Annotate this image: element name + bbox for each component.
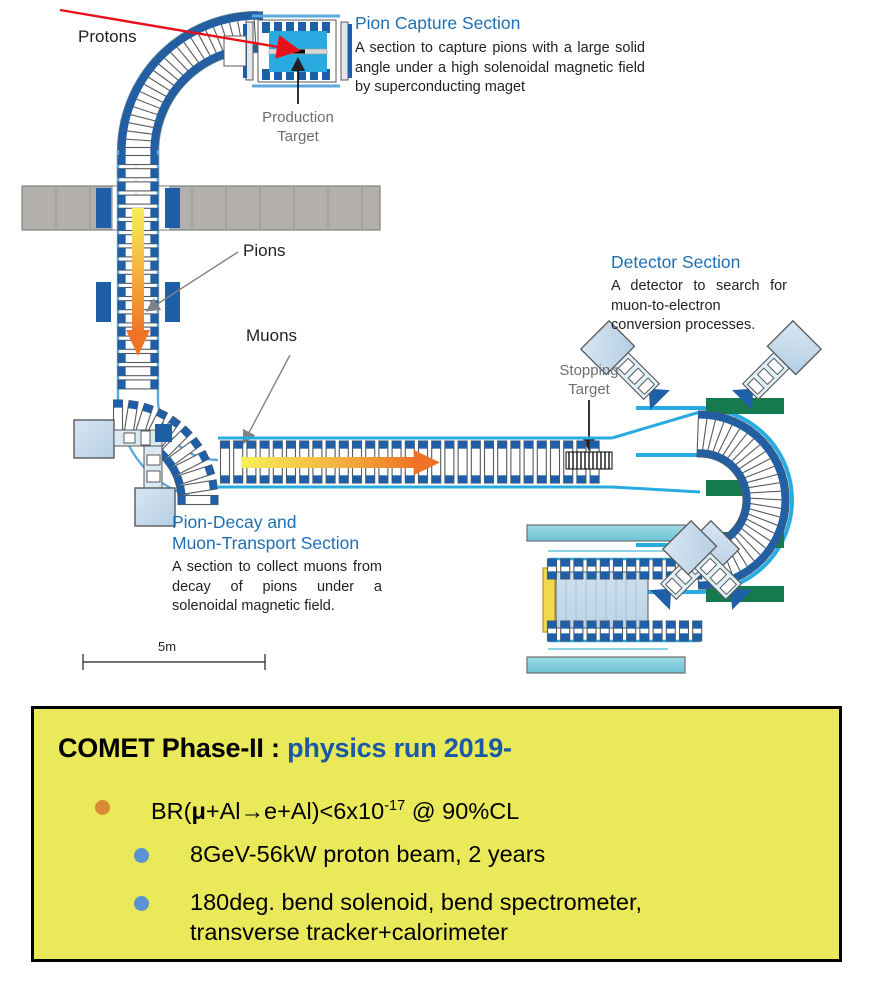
bullet-item-3: 180deg. bend solenoid, bend spectrometer… — [134, 887, 642, 947]
bullet-item-1: BR(μ+Al→e+Al)<6x10-17 @ 90%CL — [95, 791, 519, 826]
bullet-1-mu: μ — [191, 798, 205, 824]
muons-leader — [244, 355, 290, 442]
scale-bar — [83, 654, 265, 670]
pion-decay-body: A section to collect muons from decay of… — [172, 558, 382, 617]
bullet-1-tail: @ 90%CL — [405, 798, 519, 824]
panel-heading: COMET Phase-II : physics run 2019- — [58, 733, 512, 764]
detector-entry-transition — [612, 412, 700, 492]
beam-dump-assembly — [74, 420, 175, 526]
stopping-target-label-line1: Stopping — [543, 361, 635, 380]
production-target-label-line1: Production — [252, 108, 344, 127]
pion-capture-body: A section to capture pions with a large … — [355, 39, 645, 98]
shield-wall — [22, 186, 380, 230]
panel-heading-blue: physics run 2019- — [287, 733, 512, 763]
pion-capture-title: Pion Capture Section — [355, 13, 520, 34]
bullet-dot-blue-2 — [134, 896, 149, 911]
bullet-3-text: 180deg. bend solenoid, bend spectrometer… — [190, 887, 642, 947]
bullet-1-post: e+Al)<6x10 — [264, 798, 384, 824]
pion-capture-magnet — [224, 16, 352, 86]
detector-body: A detector to search for muon-to-electro… — [611, 277, 787, 336]
bullet-1-arrow: → — [241, 798, 265, 824]
bullet-1-exponent: -17 — [384, 798, 405, 814]
muon-transport-solenoid — [218, 438, 612, 487]
protons-label: Protons — [78, 27, 137, 47]
figure-canvas: Pion Capture Section A section to captur… — [0, 0, 882, 986]
pions-label: Pions — [243, 241, 286, 261]
production-target-label-line2: Target — [252, 127, 344, 146]
stopping-target — [566, 452, 612, 469]
bullet-dot-orange — [95, 800, 110, 815]
bullet-2-text: 8GeV-56kW proton beam, 2 years — [190, 839, 545, 869]
bullet-1-mid: +Al — [206, 798, 241, 824]
bullet-item-2: 8GeV-56kW proton beam, 2 years — [134, 839, 545, 869]
bullet-3-line1: 180deg. bend solenoid, bend spectrometer… — [190, 887, 642, 917]
pions-leader — [148, 252, 238, 310]
detector-title: Detector Section — [611, 252, 740, 273]
stopping-target-label-line2: Target — [543, 380, 635, 399]
panel-heading-black: COMET Phase-II : — [58, 733, 287, 763]
bullet-dot-blue-1 — [134, 848, 149, 863]
summary-panel: COMET Phase-II : physics run 2019- BR(μ+… — [31, 706, 842, 962]
pion-decay-title-line1: Pion-Decay and — [172, 512, 297, 533]
pion-decay-title-line2: Muon-Transport Section — [172, 533, 359, 554]
muons-label: Muons — [246, 326, 297, 346]
bullet-1-text: BR(μ+Al→e+Al)<6x10-17 @ 90%CL — [151, 791, 519, 826]
bullet-3-line2: transverse tracker+calorimeter — [190, 917, 642, 947]
scale-label: 5m — [158, 639, 176, 654]
bullet-1-prefix: BR( — [151, 798, 191, 824]
